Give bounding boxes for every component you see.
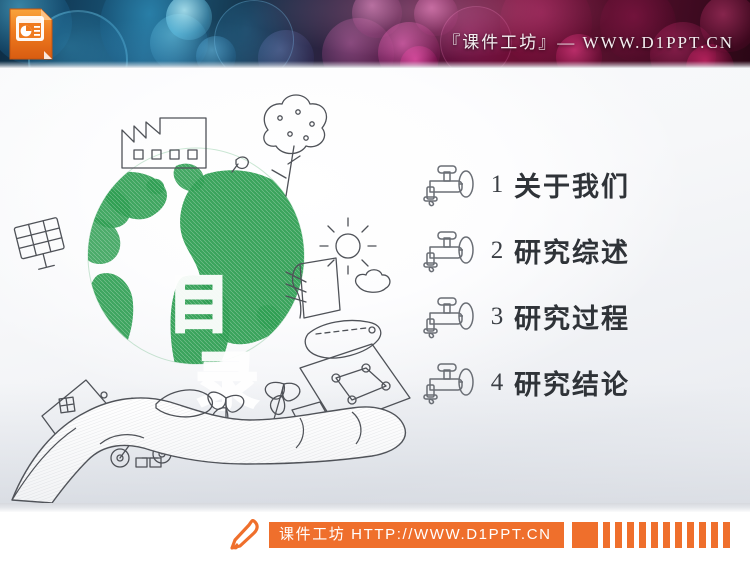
menu-item-3[interactable]: 3 研究过程 <box>418 285 718 348</box>
doodle-sun <box>320 218 376 274</box>
footer-bar-segment <box>723 522 730 548</box>
faucet-icon <box>418 225 480 277</box>
doodle-cloud <box>356 270 390 293</box>
faucet-icon <box>418 357 480 409</box>
footer-divider <box>0 503 750 512</box>
menu-item-number: 4 <box>480 369 514 397</box>
footer-accent-bars <box>572 522 735 548</box>
slide-body: 目 录 <box>0 68 750 503</box>
menu-item-label: 研究结论 <box>514 363 630 402</box>
footer-bar-segment <box>603 522 610 548</box>
footer-bar-segment <box>627 522 634 548</box>
pencil-icon <box>228 519 262 551</box>
doodle-train <box>305 321 381 359</box>
menu-item-1[interactable]: 1 关于我们 <box>418 153 718 216</box>
menu-item-label: 关于我们 <box>514 165 630 204</box>
contents-char-1: 目 <box>168 268 230 341</box>
doodle-factory <box>122 118 206 168</box>
footer-bar-segment <box>639 522 646 548</box>
menu-item-number: 2 <box>480 237 514 265</box>
menu-item-number: 1 <box>480 171 514 199</box>
footer-bar: 课件工坊 HTTP://WWW.D1PPT.CN <box>0 503 750 563</box>
banner-bottom-fade <box>0 61 750 68</box>
footer-bar-segment <box>663 522 670 548</box>
menu-item-number: 3 <box>480 303 514 331</box>
menu-item-2[interactable]: 2 研究综述 <box>418 219 718 282</box>
contents-menu-list: 1 关于我们 <box>418 153 718 417</box>
footer-bar-segment <box>699 522 706 548</box>
footer-bar-segment <box>651 522 658 548</box>
footer-bar-segment <box>572 522 598 548</box>
top-banner: 『课件工坊』— WWW.D1PPT.CN <box>0 0 750 68</box>
doodle-solar-panel <box>14 217 68 272</box>
menu-item-4[interactable]: 4 研究结论 <box>418 351 718 414</box>
menu-item-label: 研究综述 <box>514 231 630 270</box>
faucet-icon <box>418 291 480 343</box>
faucet-icon <box>418 159 480 211</box>
footer-bar-segment <box>711 522 718 548</box>
footer-bar-segment <box>687 522 694 548</box>
footer-bar-segment <box>615 522 622 548</box>
footer-bar-segment <box>675 522 682 548</box>
footer-label: 课件工坊 HTTP://WWW.D1PPT.CN <box>269 522 564 548</box>
hand-holding-sketched-globe: 目 录 <box>0 68 430 503</box>
menu-item-label: 研究过程 <box>514 297 630 336</box>
presentation-slide: 『课件工坊』— WWW.D1PPT.CN <box>0 0 750 563</box>
powerpoint-logo-icon[interactable] <box>8 7 54 61</box>
banner-title: 『课件工坊』— WWW.D1PPT.CN <box>443 28 734 53</box>
